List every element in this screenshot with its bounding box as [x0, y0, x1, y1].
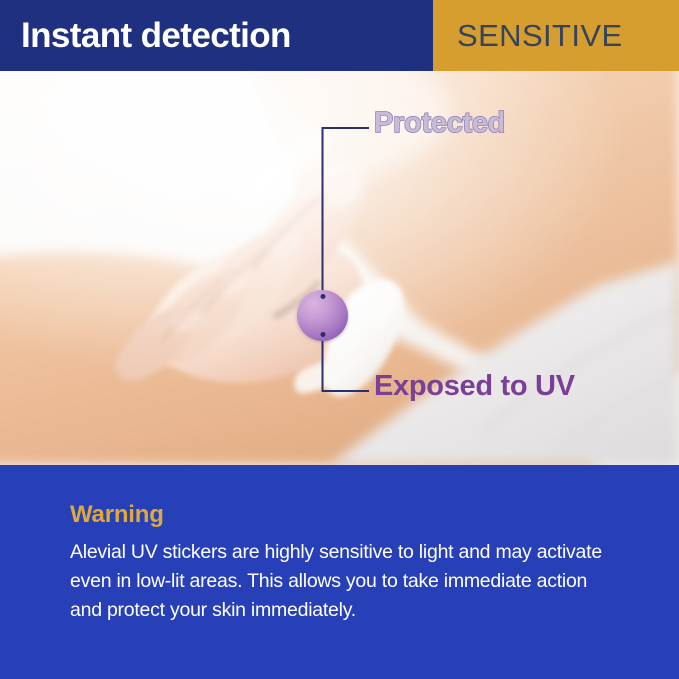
header-badge-panel: SENSITIVE — [433, 0, 679, 71]
leader-anchor-top-dot — [320, 294, 325, 299]
label-exposed-to-uv: Exposed to UV — [374, 372, 575, 401]
warning-body-text: Alevial UV stickers are highly sensitive… — [70, 538, 621, 625]
uv-indicator-sticker[interactable] — [297, 290, 348, 341]
page-title: Instant detection — [21, 18, 291, 53]
leader-anchor-bottom-dot — [320, 332, 325, 337]
leader-lines — [0, 71, 679, 465]
warning-panel: Warning Alevial UV stickers are highly s… — [0, 465, 679, 679]
product-infographic-page: Protected Exposed to UV Instant detectio… — [0, 0, 679, 679]
label-protected: Protected — [374, 109, 505, 138]
warning-heading: Warning — [70, 503, 621, 527]
header-title-panel: Instant detection — [0, 0, 433, 71]
header-band: Instant detection SENSITIVE — [0, 0, 679, 71]
annotation-overlay: Protected Exposed to UV — [0, 71, 679, 465]
status-badge: SENSITIVE — [457, 20, 623, 51]
